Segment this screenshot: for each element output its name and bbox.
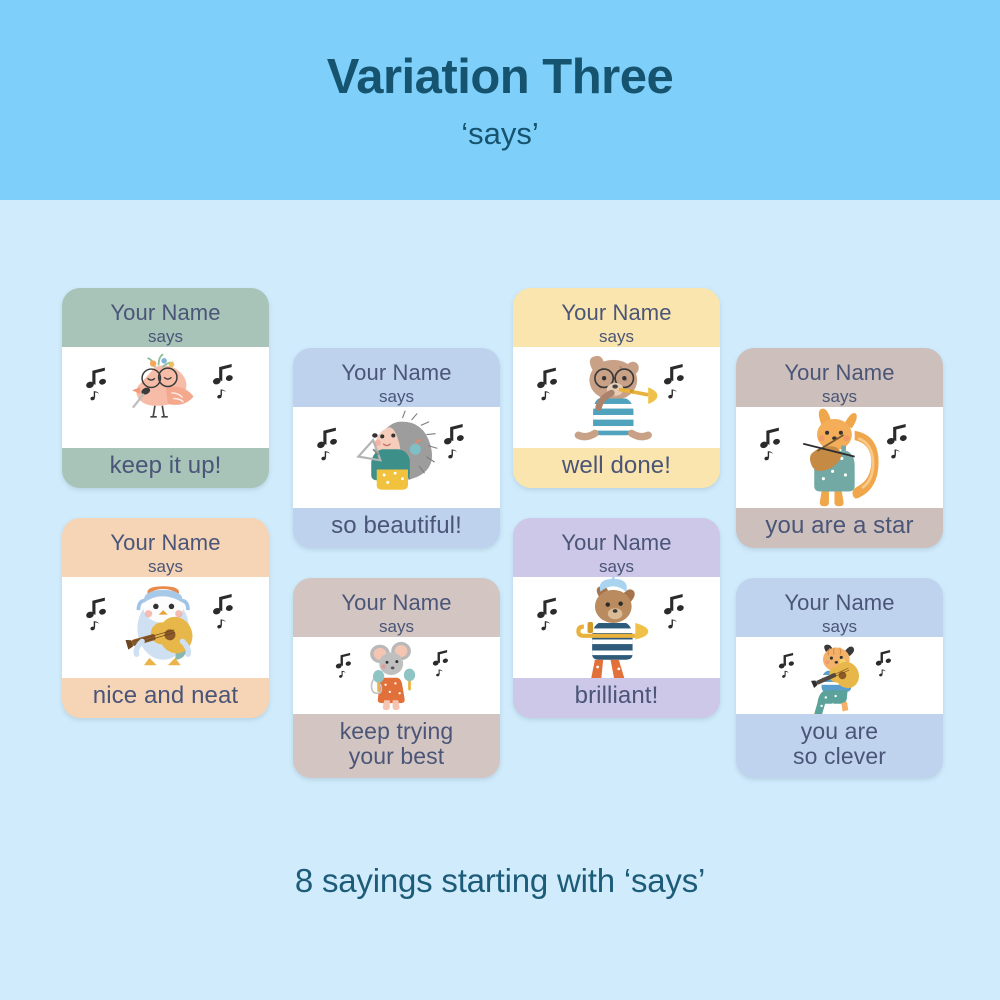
- says-word: says: [513, 326, 720, 347]
- card-footer: nice and neat: [62, 678, 269, 718]
- card-grid: Your Namesays keep it up!Your Namesays: [0, 200, 1000, 860]
- sticker-card-nice-and-neat[interactable]: Your Namesays nice: [62, 518, 269, 718]
- bird-singing-microphone-icon: [62, 347, 269, 448]
- card-footer: you are so clever: [736, 714, 943, 778]
- illustration-band: [736, 407, 943, 508]
- says-word: says: [293, 386, 500, 407]
- sticker-card-keep-trying-your-best[interactable]: Your Namesays keep trying your best: [293, 578, 500, 778]
- name-placeholder: Your Name: [293, 591, 500, 616]
- says-word: says: [62, 556, 269, 577]
- footer-caption: 8 sayings starting with ‘says’: [0, 862, 1000, 900]
- card-phrase: you are a star: [736, 513, 943, 539]
- illustration-band: [293, 407, 500, 508]
- card-phrase: you are so clever: [736, 719, 943, 769]
- card-phrase: nice and neat: [62, 683, 269, 709]
- sticker-card-well-done[interactable]: Your Namesays well done!: [513, 288, 720, 488]
- page-title: Variation Three: [0, 0, 1000, 103]
- name-placeholder: Your Name: [736, 361, 943, 386]
- card-header: Your Namesays: [293, 578, 500, 637]
- sticker-card-you-are-so-clever[interactable]: Your Namesays you: [736, 578, 943, 778]
- illustration-band: [62, 577, 269, 678]
- card-footer: keep trying your best: [293, 714, 500, 778]
- says-word: says: [736, 386, 943, 407]
- squirrel-violin-icon: [736, 407, 943, 508]
- page-subtitle: ‘says’: [0, 103, 1000, 151]
- card-header: Your Namesays: [513, 518, 720, 577]
- sticker-card-you-are-a-star[interactable]: Your Namesays you are a star: [736, 348, 943, 548]
- name-placeholder: Your Name: [62, 531, 269, 556]
- card-phrase: so beautiful!: [293, 513, 500, 539]
- card-phrase: brilliant!: [513, 683, 720, 709]
- illustration-band: [736, 637, 943, 714]
- card-footer: keep it up!: [62, 448, 269, 488]
- card-header: Your Namesays: [736, 578, 943, 637]
- card-phrase: keep trying your best: [293, 719, 500, 769]
- card-phrase: keep it up!: [62, 453, 269, 479]
- hedgehog-triangle-icon: [293, 407, 500, 508]
- card-footer: you are a star: [736, 508, 943, 548]
- card-footer: well done!: [513, 448, 720, 488]
- name-placeholder: Your Name: [736, 591, 943, 616]
- card-header: Your Namesays: [293, 348, 500, 407]
- name-placeholder: Your Name: [62, 301, 269, 326]
- card-footer: brilliant!: [513, 678, 720, 718]
- illustration-band: [513, 577, 720, 678]
- illustration-band: [293, 637, 500, 714]
- card-header: Your Namesays: [736, 348, 943, 407]
- sticker-card-brilliant[interactable]: Your Namesays brilliant!: [513, 518, 720, 718]
- name-placeholder: Your Name: [293, 361, 500, 386]
- card-phrase: well done!: [513, 453, 720, 479]
- says-word: says: [736, 616, 943, 637]
- card-footer: so beautiful!: [293, 508, 500, 548]
- sticker-card-keep-it-up[interactable]: Your Namesays keep it up!: [62, 288, 269, 488]
- owl-guitar-icon: [62, 577, 269, 678]
- card-header: Your Namesays: [62, 518, 269, 577]
- bear-trumpet-icon: [513, 347, 720, 448]
- bear-trombone-icon: [513, 577, 720, 678]
- name-placeholder: Your Name: [513, 531, 720, 556]
- card-header: Your Namesays: [513, 288, 720, 347]
- name-placeholder: Your Name: [513, 301, 720, 326]
- says-word: says: [293, 616, 500, 637]
- illustration-band: [513, 347, 720, 448]
- says-word: says: [62, 326, 269, 347]
- card-header: Your Namesays: [62, 288, 269, 347]
- cat-guitar-icon: [736, 637, 943, 714]
- illustration-band: [62, 347, 269, 448]
- sticker-card-so-beautiful[interactable]: Your Namesays so beautiful!: [293, 348, 500, 548]
- mouse-maracas-icon: [293, 637, 500, 714]
- page-header: Variation Three ‘says’: [0, 0, 1000, 200]
- says-word: says: [513, 556, 720, 577]
